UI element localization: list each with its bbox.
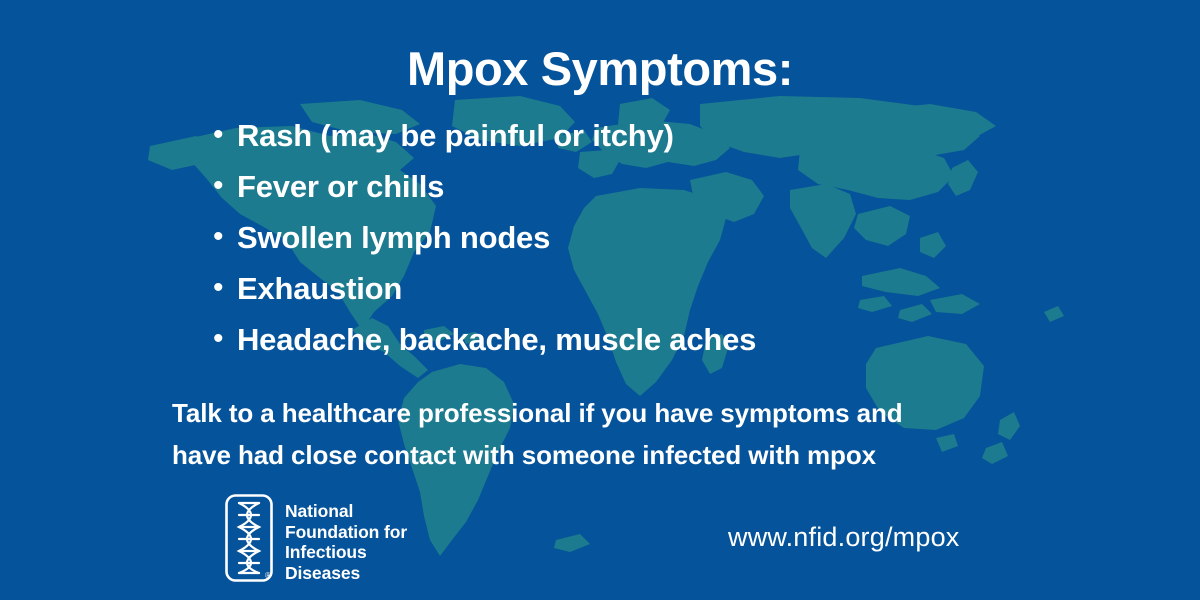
logo-line-1: National	[285, 501, 407, 522]
logo-line-3: Infectious	[285, 542, 407, 563]
list-item: • Headache, backache, muscle aches	[213, 322, 756, 373]
dna-helix-icon: ®	[225, 494, 273, 582]
logo-line-4: Diseases	[285, 563, 407, 584]
bullet-icon: •	[213, 222, 237, 252]
bullet-icon: •	[213, 324, 237, 354]
list-item: • Rash (may be painful or itchy)	[213, 118, 756, 169]
symptom-list: • Rash (may be painful or itchy) • Fever…	[213, 118, 756, 373]
page-title: Mpox Symptoms:	[0, 44, 1200, 93]
symptom-label: Headache, backache, muscle aches	[237, 322, 756, 358]
website-url[interactable]: www.nfid.org/mpox	[728, 522, 960, 553]
bullet-icon: •	[213, 171, 237, 201]
symptom-label: Exhaustion	[237, 271, 402, 307]
registered-mark-icon: ®	[265, 571, 271, 580]
advice-line-1: Talk to a healthcare professional if you…	[172, 392, 1002, 434]
advice-text: Talk to a healthcare professional if you…	[172, 392, 1002, 476]
list-item: • Fever or chills	[213, 169, 756, 220]
symptom-label: Swollen lymph nodes	[237, 220, 550, 256]
logo-line-2: Foundation for	[285, 522, 407, 543]
advice-line-2: have had close contact with someone infe…	[172, 434, 1002, 476]
mpox-symptoms-poster: Mpox Symptoms: • Rash (may be painful or…	[0, 0, 1200, 600]
symptom-label: Rash (may be painful or itchy)	[237, 118, 674, 154]
bullet-icon: •	[213, 273, 237, 303]
bullet-icon: •	[213, 120, 237, 150]
logo-wordmark: National Foundation for Infectious Disea…	[285, 494, 407, 583]
list-item: • Exhaustion	[213, 271, 756, 322]
list-item: • Swollen lymph nodes	[213, 220, 756, 271]
nfid-logo: ® National Foundation for Infectious Dis…	[225, 494, 407, 583]
symptom-label: Fever or chills	[237, 169, 444, 205]
